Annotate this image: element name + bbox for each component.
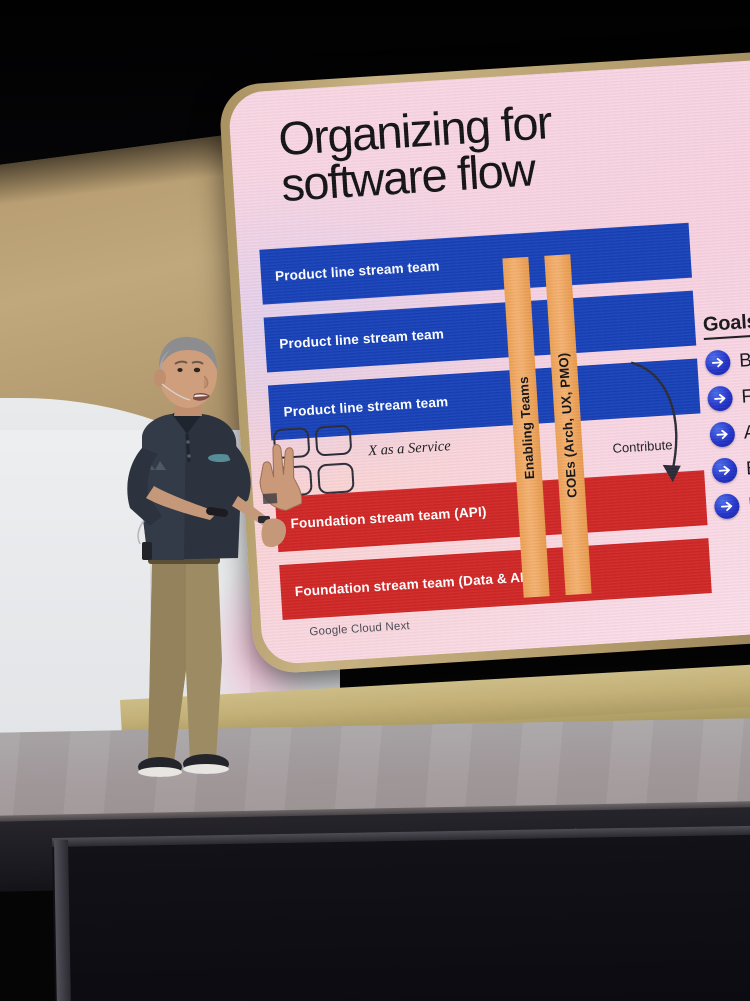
goals-heading: Goals:	[702, 310, 750, 340]
xaas-tile-icon	[317, 462, 355, 494]
presenter-eye	[194, 368, 200, 373]
goal-item: Fas	[707, 376, 750, 412]
slide-title: Organizing for software flow	[277, 87, 742, 207]
presenter-ear	[154, 369, 166, 387]
stream-bar: Foundation stream team (Data & AI)	[279, 538, 712, 620]
stream-bar-label: Foundation stream team (Data & AI)	[294, 569, 528, 599]
slide-surface: Organizing for software flow Product lin…	[227, 51, 750, 665]
vertical-bar-label: COEs (Arch, UX, PMO)	[556, 352, 580, 498]
goal-label: Arc	[743, 420, 750, 444]
stream-bar-label: Product line stream team	[275, 258, 440, 283]
presenter-open-hand	[262, 518, 287, 547]
contribute-arrow-icon	[623, 355, 698, 499]
arrow-right-circle-icon	[709, 421, 736, 448]
goal-label: Eng	[745, 456, 750, 480]
arrow-right-circle-icon	[705, 349, 732, 376]
vertical-bar-label: Enabling Teams	[515, 375, 536, 479]
stream-bar-label: Product line stream team	[279, 326, 444, 351]
xaas-label: X as a Service	[368, 438, 451, 460]
goal-item: Eng	[711, 447, 750, 483]
foreground-block	[52, 825, 750, 1001]
goal-item: Buil	[705, 340, 750, 376]
arrow-right-circle-icon	[714, 493, 741, 520]
xaas-tile-icon	[315, 424, 353, 456]
presenter-mic-pack	[142, 542, 152, 560]
presentation-screen: Organizing for software flow Product lin…	[218, 47, 750, 675]
stream-bar-label: Product line stream team	[283, 394, 448, 419]
arrow-right-circle-icon	[711, 457, 738, 484]
goal-label: Buil	[739, 348, 750, 372]
goal-item: Arc	[709, 412, 750, 448]
conference-stage-scene: Organizing for software flow Product lin…	[0, 0, 750, 1001]
presenter	[90, 330, 290, 800]
presenter-eye	[177, 368, 182, 372]
arrow-right-circle-icon	[707, 385, 734, 412]
foreground-block-left-rim	[54, 840, 71, 1001]
stream-bar: Product line stream team	[259, 223, 692, 305]
stream-bar-label: Foundation stream team (API)	[290, 504, 487, 531]
goal-label: Fas	[741, 384, 750, 408]
team-topology-diagram: Product line stream team Product line st…	[247, 213, 750, 630]
goal-item: Ra	[714, 483, 750, 519]
